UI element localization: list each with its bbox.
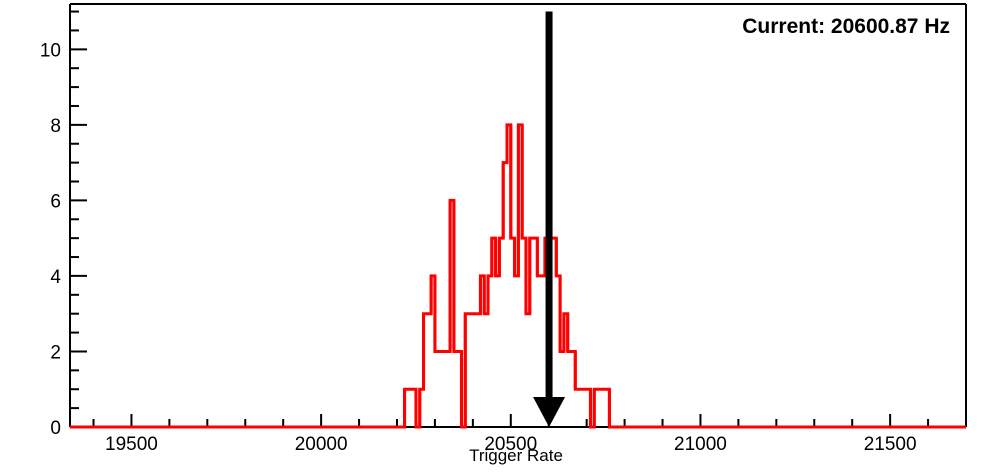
marker-arrowhead (533, 397, 565, 427)
y-tick-label: 10 (40, 40, 61, 61)
current-rate-annotation: Current: 20600.87 Hz (742, 15, 950, 38)
y-tick-label: 4 (50, 267, 61, 288)
x-tick-label: 20000 (295, 434, 348, 455)
y-tick-label: 8 (50, 116, 61, 137)
y-tick-label: 2 (50, 342, 61, 363)
root-canvas: 1950020000205002100021500 0246810 Trigge… (0, 0, 996, 472)
current-value-marker (533, 12, 565, 427)
x-tick-label: 19500 (105, 434, 158, 455)
y-tick-label: 6 (50, 191, 61, 212)
x-axis-title: Trigger Rate (469, 446, 563, 465)
x-tick-label: 21000 (674, 434, 727, 455)
histogram-series (70, 125, 966, 427)
histogram-plot[interactable]: 1950020000205002100021500 0246810 Trigge… (0, 0, 996, 472)
y-axis-tick-labels: 0246810 (40, 40, 62, 439)
y-tick-label: 0 (50, 418, 61, 439)
x-tick-label: 21500 (864, 434, 917, 455)
